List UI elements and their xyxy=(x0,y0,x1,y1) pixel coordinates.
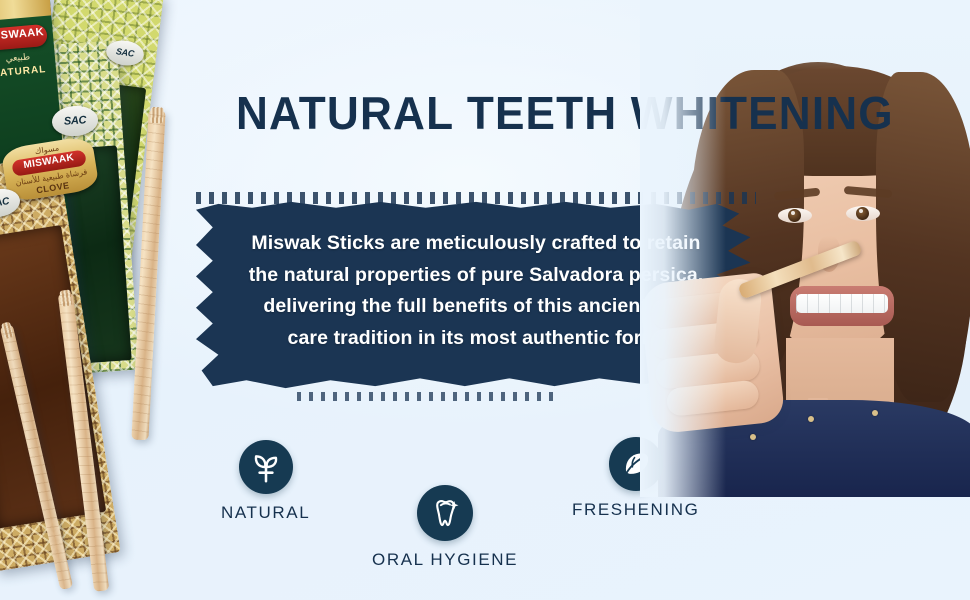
sac-badge-text: SAC xyxy=(0,196,10,210)
model-teeth xyxy=(796,294,888,313)
feature-natural: NATURAL xyxy=(221,440,310,523)
tooth-sparkle-icon xyxy=(428,496,462,530)
jacket-stud xyxy=(808,416,814,422)
jacket-stud xyxy=(750,434,756,440)
product-photo-cluster: MISWAAK طبيعي NATURAL مسواك MISWAAK فرشا… xyxy=(0,0,220,600)
feature-label: FRESHENING xyxy=(572,500,699,520)
model-eye-right xyxy=(846,206,880,221)
stick-frayed-tip xyxy=(150,107,164,124)
sac-badge-text: SAC xyxy=(115,47,135,59)
sprout-icon xyxy=(249,450,283,484)
model-eye-left xyxy=(778,208,812,223)
stick-frayed-tip xyxy=(59,289,72,306)
feature-icon-circle xyxy=(417,485,473,541)
model-photo xyxy=(640,0,970,497)
photo-left-fade xyxy=(640,0,726,497)
model-mouth xyxy=(790,286,894,326)
feature-label: NATURAL xyxy=(221,503,310,523)
sac-badge-text: SAC xyxy=(63,114,86,128)
jacket-stud xyxy=(872,410,878,416)
feature-icon-circle xyxy=(239,440,293,494)
promo-banner: MISWAAK طبيعي NATURAL مسواك MISWAAK فرشا… xyxy=(0,0,970,600)
page-title: NATURAL TEETH WHITENING xyxy=(236,90,841,136)
pack-variant-label: NATURAL xyxy=(0,63,56,80)
model-iris-left xyxy=(788,209,801,222)
gold-band xyxy=(0,0,51,22)
photo-top-fade xyxy=(640,0,970,70)
model-iris-right xyxy=(856,207,869,220)
brush-specks-bottom xyxy=(297,392,555,401)
feature-oral-hygiene: ORAL HYGIENE xyxy=(372,485,518,570)
feature-label: ORAL HYGIENE xyxy=(372,550,518,570)
